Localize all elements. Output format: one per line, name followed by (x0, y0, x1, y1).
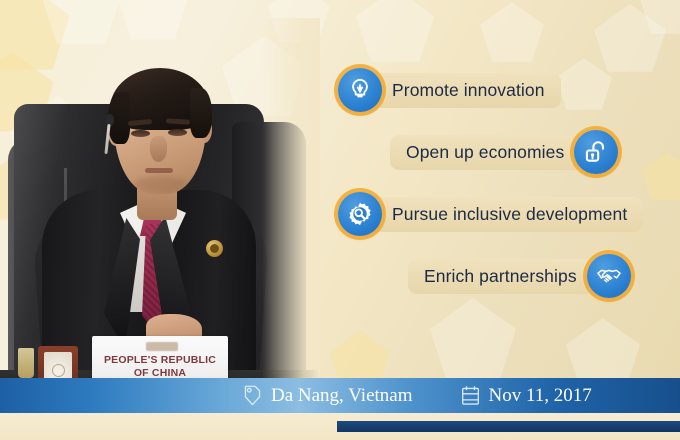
lightbulb-icon (338, 68, 382, 112)
list-item[interactable]: Pursue inclusive development (338, 190, 643, 238)
desk-stand-seal (52, 364, 65, 377)
list-item[interactable]: Enrich partnerships (408, 252, 631, 300)
eye-right (168, 129, 187, 136)
hair-side-right (190, 88, 212, 138)
nose (150, 136, 167, 162)
pentagon-decoration (594, 4, 666, 72)
chin-shadow (134, 176, 186, 192)
list-item-label: Promote innovation (358, 73, 561, 108)
lapel-pin-center (210, 244, 219, 253)
pentagon-decoration (480, 2, 544, 62)
date-text: Nov 11, 2017 (489, 385, 592, 407)
list-item-label: Enrich partnerships (408, 259, 611, 294)
list-item-label: Pursue inclusive development (358, 197, 643, 232)
nameplate-logo (146, 342, 178, 351)
list-item[interactable]: Promote innovation (338, 66, 561, 114)
list-item-label: Open up economies (390, 135, 598, 170)
nameplate-line-1: PEOPLE'S REPUBLIC (92, 354, 228, 367)
list-item[interactable]: Open up economies (390, 128, 618, 176)
location-text: Da Nang, Vietnam (271, 385, 413, 407)
open-padlock-icon (574, 130, 618, 174)
date-info: Nov 11, 2017 (461, 385, 592, 407)
mouth (145, 168, 173, 173)
photo-edge-fade (262, 18, 320, 418)
eye-left (131, 130, 150, 137)
nameplate-text: PEOPLE'S REPUBLIC OF CHINA (92, 354, 228, 380)
location-tag-icon (243, 385, 262, 406)
pentagon-decoration (640, 0, 680, 34)
key-points-list: Promote innovation Open up economies (330, 66, 680, 316)
footer-bar: Da Nang, Vietnam Nov 11, 2017 (0, 378, 680, 413)
official-photo: PEOPLE'S REPUBLIC OF CHINA (0, 18, 318, 400)
location-info: Da Nang, Vietnam (243, 385, 413, 407)
gear-wrench-icon (338, 192, 382, 236)
slide-canvas: PEOPLE'S REPUBLIC OF CHINA Promote innov… (0, 0, 680, 440)
drinking-glass (18, 348, 34, 378)
calendar-icon (461, 385, 480, 406)
handshake-icon (587, 254, 631, 298)
pentagon-decoration (356, 0, 434, 62)
footer-navy-accent-bar (337, 421, 680, 432)
